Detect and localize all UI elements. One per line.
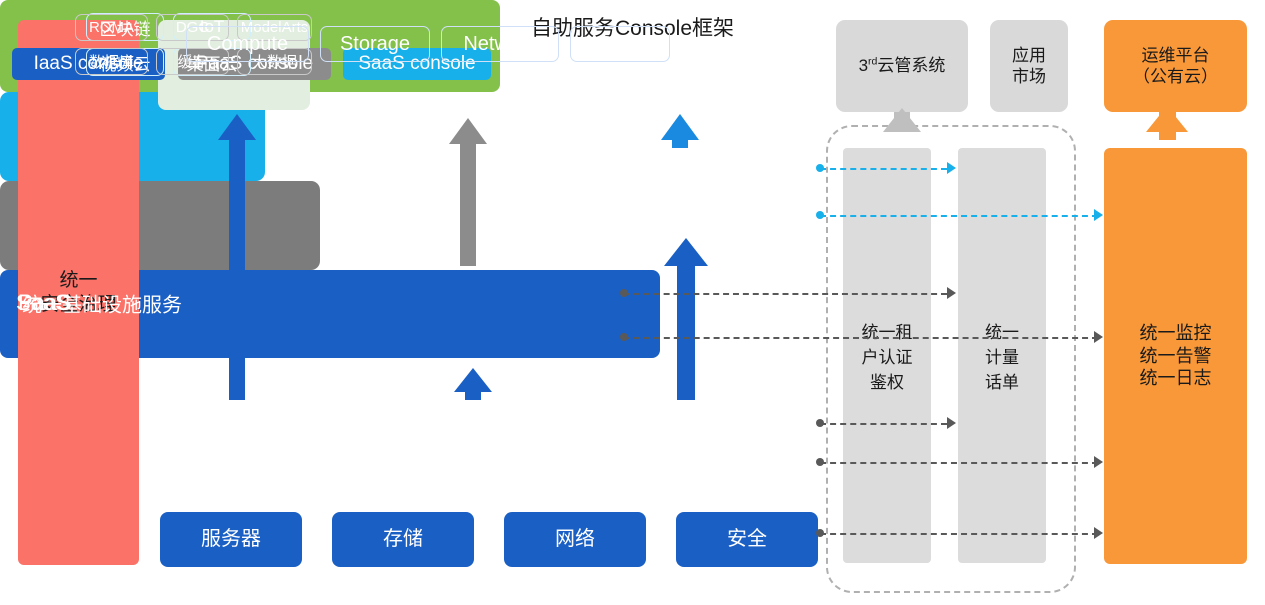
infra-line1-arrowhead: [947, 417, 956, 429]
saas-line2-arrowhead: [1094, 209, 1103, 221]
paas-chip-database-label: 数据库: [89, 51, 134, 72]
unified-metering-billing-column: 统一 计量 话单: [958, 148, 1046, 563]
infra-chip-compute[interactable]: Compute: [186, 26, 309, 62]
infra-line2-arrowhead: [1094, 456, 1103, 468]
app-market-line2: 市场: [1012, 66, 1046, 87]
unified-metering-billing-label: 统一 计量 话单: [985, 318, 1019, 393]
arrow-infra-to-saas: [664, 238, 708, 400]
infra-chip-compute-label: Compute: [207, 33, 288, 56]
hardware-network-box[interactable]: 网络: [504, 512, 646, 567]
paas-chip-database[interactable]: 数据库: [75, 48, 148, 75]
paas-line1: [624, 293, 947, 295]
unified-tenant-auth-column: 统一租 户认证 鉴权: [843, 148, 931, 563]
infra-chip-network[interactable]: Network: [441, 26, 559, 62]
third-party-cloud-management-box: 3rd云管系统: [836, 20, 968, 112]
hardware-storage-box[interactable]: 存储: [332, 512, 474, 567]
third-party-rest: 云管系统: [877, 56, 945, 75]
paas-line2: [624, 337, 1098, 339]
arrow-infra-to-paas: [454, 368, 492, 400]
infra-chip-cce-label: CCE: [599, 33, 641, 56]
saas-line1: [820, 168, 947, 170]
third-party-cloud-management-label: 3rd云管系统: [859, 55, 946, 76]
hardware-network-label: 网络: [555, 527, 595, 552]
infra-chip-storage-label: Storage: [340, 33, 410, 56]
infra-line2: [820, 462, 1098, 464]
app-market-line1: 应用: [1012, 45, 1046, 66]
infra-line1: [820, 423, 947, 425]
hardware-security-label: 安全: [727, 527, 767, 552]
arrow-saas-to-console: [661, 114, 699, 148]
third-party-prefix: 3: [859, 56, 868, 75]
paas-line1-arrowhead: [947, 287, 956, 299]
ops-platform-top-box: 运维平台 （公有云）: [1104, 20, 1247, 112]
ops-platform-line1: 运维平台: [1142, 45, 1210, 66]
hardware-security-box[interactable]: 安全: [676, 512, 818, 567]
ops-platform-line2: （公有云）: [1133, 66, 1218, 87]
hardware-line-arrowhead: [1094, 527, 1103, 539]
saas-line1-arrowhead: [947, 162, 956, 174]
hardware-server-label: 服务器: [201, 527, 261, 552]
infra-chip-cce[interactable]: CCE: [570, 26, 670, 62]
unified-monitoring-label: 统一监控 统一告警 统一日志: [1140, 322, 1212, 390]
paas-chip-roma[interactable]: ROMA: [75, 14, 148, 41]
paas-chip-roma-label: ROMA: [89, 19, 134, 36]
architecture-diagram: 统一 安全治理 API网关 自助服务Console框架 IaaS console…: [0, 0, 1265, 605]
arrow-paas-to-console: [449, 118, 487, 266]
unified-infrastructure-label: 统一基础设施服务: [22, 288, 182, 317]
hardware-line: [820, 533, 1098, 535]
infra-chip-network-label: Network: [463, 33, 536, 56]
unified-monitoring-column: 统一监控 统一告警 统一日志: [1104, 148, 1247, 564]
paas-line2-arrowhead: [1094, 331, 1103, 343]
unified-tenant-auth-label: 统一租 户认证 鉴权: [862, 318, 913, 393]
hardware-server-box[interactable]: 服务器: [160, 512, 302, 567]
hardware-storage-label: 存储: [383, 527, 423, 552]
saas-line2: [820, 215, 1098, 217]
infra-chip-storage[interactable]: Storage: [320, 26, 430, 62]
app-market-box: 应用 市场: [990, 20, 1068, 112]
